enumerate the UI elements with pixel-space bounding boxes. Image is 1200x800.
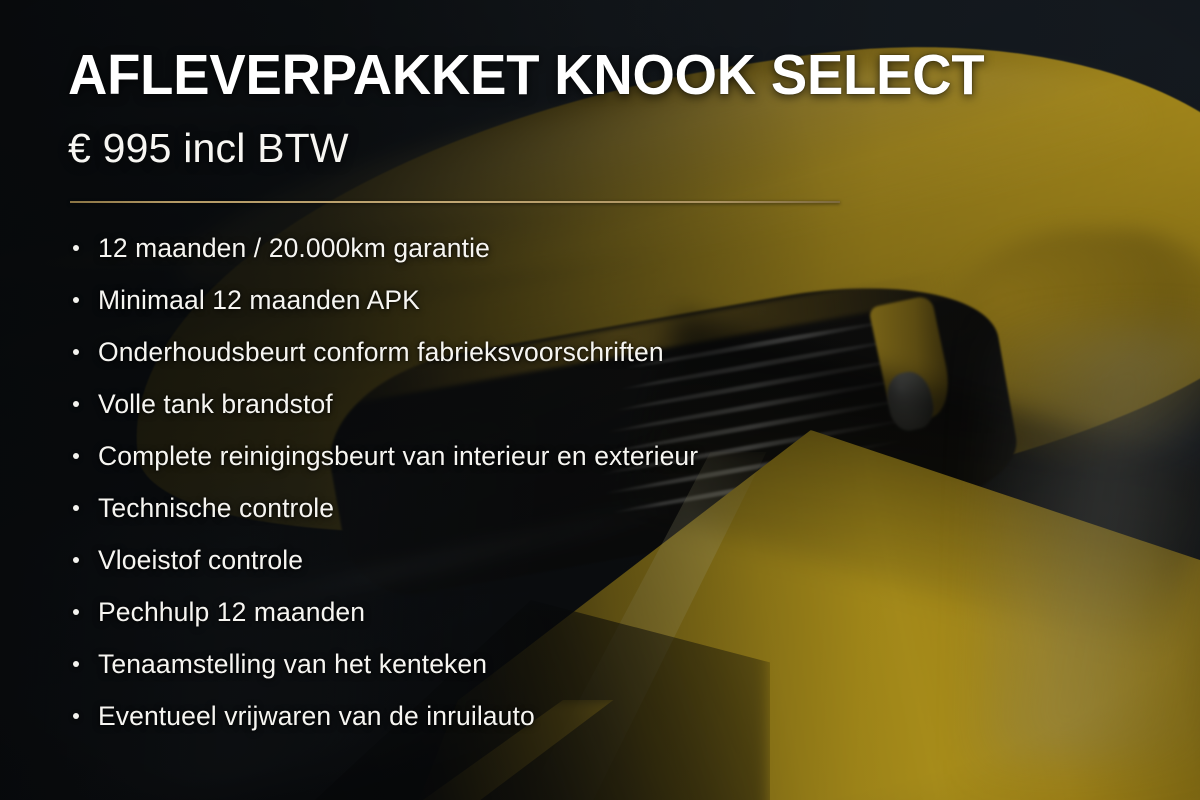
bullet-dot-icon: [73, 557, 79, 563]
promo-banner: AFLEVERPAKKET KNOOK SELECT € 995 incl BT…: [0, 0, 1200, 800]
bullet-dot-icon: [73, 713, 79, 719]
bullet-dot-icon: [73, 297, 79, 303]
list-item: Volle tank brandstof: [68, 378, 1128, 430]
divider: [70, 201, 840, 203]
list-item-label: Technische controle: [98, 493, 334, 524]
page-title: AFLEVERPAKKET KNOOK SELECT: [68, 47, 984, 104]
list-item-label: Complete reinigingsbeurt van interieur e…: [98, 441, 698, 472]
list-item: Onderhoudsbeurt conform fabrieksvoorschr…: [68, 326, 1128, 378]
promo-content: AFLEVERPAKKET KNOOK SELECT € 995 incl BT…: [0, 0, 1200, 800]
bullet-dot-icon: [73, 453, 79, 459]
list-item: 12 maanden / 20.000km garantie: [68, 222, 1128, 274]
price-label: € 995 incl BTW: [68, 126, 349, 172]
list-item-label: Tenaamstelling van het kenteken: [98, 649, 487, 680]
bullet-dot-icon: [73, 349, 79, 355]
list-item-label: 12 maanden / 20.000km garantie: [98, 233, 490, 264]
bullet-dot-icon: [73, 245, 79, 251]
list-item: Minimaal 12 maanden APK: [68, 274, 1128, 326]
list-item: Technische controle: [68, 482, 1128, 534]
list-item-label: Minimaal 12 maanden APK: [98, 285, 420, 316]
list-item: Pechhulp 12 maanden: [68, 586, 1128, 638]
bullet-dot-icon: [73, 609, 79, 615]
list-item-label: Volle tank brandstof: [98, 389, 333, 420]
list-item-label: Onderhoudsbeurt conform fabrieksvoorschr…: [98, 337, 664, 368]
list-item: Vloeistof controle: [68, 534, 1128, 586]
list-item-label: Eventueel vrijwaren van de inruilauto: [98, 701, 535, 732]
list-item: Eventueel vrijwaren van de inruilauto: [68, 690, 1128, 742]
bullet-dot-icon: [73, 401, 79, 407]
bullet-dot-icon: [73, 505, 79, 511]
features-list: 12 maanden / 20.000km garantie Minimaal …: [68, 222, 1128, 742]
bullet-dot-icon: [73, 661, 79, 667]
list-item-label: Vloeistof controle: [98, 545, 303, 576]
list-item: Complete reinigingsbeurt van interieur e…: [68, 430, 1128, 482]
list-item: Tenaamstelling van het kenteken: [68, 638, 1128, 690]
list-item-label: Pechhulp 12 maanden: [98, 597, 365, 628]
